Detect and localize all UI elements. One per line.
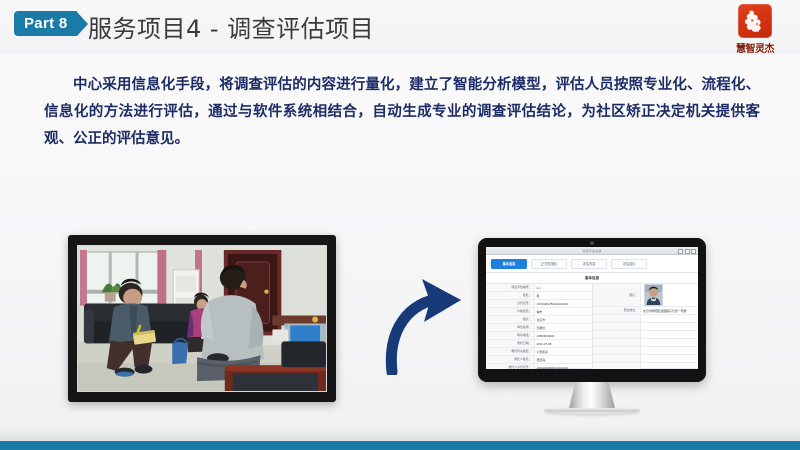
field-row-empty: [593, 347, 699, 355]
field-label: 委托人身份证号：: [486, 364, 535, 369]
part-badge-label: Part 8: [14, 11, 77, 36]
monitor-stand: [569, 382, 615, 408]
body-paragraph: 中心采用信息化手段，将调查评估的内容进行量化，建立了智能分析模型，评估人员按照专…: [44, 72, 760, 153]
tab-assessment-conclusion[interactable]: 评估结论: [611, 259, 647, 269]
page-title: 服务项目4 - 调查评估项目: [88, 9, 374, 44]
field-row-empty: [593, 315, 699, 323]
photo-field-label: 照片：: [593, 284, 642, 306]
basic-info-form: 调查评估编号： 1-1 姓名： 男 身份证号： 1301011978010101…: [486, 283, 698, 368]
window-controls[interactable]: [678, 249, 696, 254]
field-label: 姓名：: [486, 292, 535, 299]
field-row-empty: [593, 355, 699, 363]
monitor-screen: 调查评估系统 基本信息 正式性指标 评估内容 评估结论 基本信息: [486, 247, 698, 369]
field-value[interactable]: 1-1: [535, 286, 592, 290]
field-label: 户籍性质：: [486, 308, 535, 315]
field-row: 调查评估编号： 1-1: [486, 284, 592, 292]
field-row: 委托人身份证号： 13010119800101010101: [486, 364, 592, 369]
field-label-empty: [593, 315, 642, 322]
app-window-title: 调查评估系统: [582, 249, 601, 253]
monitor-bezel: 调查评估系统 基本信息 正式性指标 评估内容 评估结论 基本信息: [478, 238, 706, 382]
field-row: 姓名： 男: [486, 292, 592, 300]
field-label-empty: [593, 347, 642, 354]
field-label-empty: [593, 339, 642, 346]
field-value[interactable]: 男: [535, 294, 592, 298]
bottom-shade: [0, 425, 800, 441]
curved-arrow-icon: [378, 275, 488, 375]
field-row: 联系电话： 13800000000: [486, 332, 592, 340]
tab-formal-indicators[interactable]: 正式性指标: [531, 259, 567, 269]
bottom-accent-bar: [0, 441, 800, 450]
logo-wordmark: 慧智灵杰: [724, 40, 786, 55]
field-label: 调查评估编号：: [486, 284, 535, 291]
tab-assessment-content[interactable]: 评估内容: [571, 259, 607, 269]
field-value[interactable]: 无单位: [535, 326, 592, 330]
field-row-empty: [593, 363, 699, 369]
field-value[interactable]: 城市: [535, 310, 592, 314]
part-badge-arrow: [77, 12, 88, 36]
form-column-left: 调查评估编号： 1-1 姓名： 男 身份证号： 1301011978010101…: [486, 284, 593, 368]
minimize-icon[interactable]: [678, 249, 683, 254]
app-titlebar: 调查评估系统: [486, 247, 698, 255]
slide-header: Part 8 服务项目4 - 调查评估项目 慧智灵杰: [0, 0, 800, 55]
photo-monitor-frame: [68, 235, 336, 402]
field-value[interactable]: 13010119800101010101: [535, 366, 592, 370]
logo-mark-icon: [738, 4, 772, 38]
field-row: 委托机关类型： 公安机关: [486, 348, 592, 356]
field-label-empty: [593, 363, 642, 369]
field-label: 联系电话：: [486, 332, 535, 339]
field-row: 户籍性质： 城市: [486, 308, 592, 316]
form-section-title: 基本信息: [486, 273, 698, 283]
field-value[interactable]: 2016-07-08: [535, 342, 592, 346]
photo-field-row: 照片：: [593, 284, 699, 307]
software-monitor: 调查评估系统 基本信息 正式性指标 评估内容 评估结论 基本信息: [478, 238, 706, 414]
field-label-empty: [593, 323, 642, 330]
slide-canvas: Part 8 服务项目4 - 调查评估项目 慧智灵杰 中心采用信息化手段，将调查…: [0, 0, 800, 450]
field-row: 身份证号： 13010119780101010101: [486, 300, 592, 308]
field-label-empty: [593, 331, 642, 338]
field-row: 籍贯： 北京市: [486, 316, 592, 324]
field-label: 委托人姓名：: [486, 356, 535, 363]
field-label: 居住地址：: [593, 307, 642, 314]
monitor-base: [544, 407, 640, 414]
part-badge: Part 8: [14, 11, 88, 36]
id-photo-thumbnail[interactable]: [644, 284, 663, 306]
maximize-icon[interactable]: [685, 249, 690, 254]
field-label: 委托机关类型：: [486, 348, 535, 355]
field-value[interactable]: 13800000000: [535, 334, 592, 338]
company-logo: 慧智灵杰: [724, 4, 786, 55]
field-value[interactable]: 公安机关: [535, 350, 592, 354]
field-row-empty: [593, 339, 699, 347]
field-value[interactable]: 张四海: [535, 358, 592, 362]
field-label: 单位名称：: [486, 324, 535, 331]
field-row: 委托人姓名： 张四海: [486, 356, 592, 364]
field-row: 居住地址： 北京市朝阳区建国路东方街一号楼: [593, 307, 699, 315]
webcam-icon: [590, 241, 594, 245]
field-row: 单位名称： 无单位: [486, 324, 592, 332]
field-label-empty: [593, 355, 642, 362]
close-icon[interactable]: [691, 249, 696, 254]
tab-basic-info[interactable]: 基本信息: [491, 259, 527, 269]
field-label: 籍贯：: [486, 316, 535, 323]
interview-photo: [77, 245, 327, 392]
form-column-right: 照片：: [593, 284, 699, 368]
app-tab-bar: 基本信息 正式性指标 评估内容 评估结论: [486, 255, 698, 273]
field-label: 身份证号：: [486, 300, 535, 307]
photo-cell: [641, 284, 698, 306]
field-value[interactable]: 13010119780101010101: [535, 302, 592, 306]
field-value[interactable]: 北京市朝阳区建国路东方街一号楼: [641, 309, 698, 313]
field-row-empty: [593, 331, 699, 339]
field-row-empty: [593, 323, 699, 331]
field-value[interactable]: 北京市: [535, 318, 592, 322]
field-label: 委托日期：: [486, 340, 535, 347]
field-row: 委托日期： 2016-07-08: [486, 340, 592, 348]
